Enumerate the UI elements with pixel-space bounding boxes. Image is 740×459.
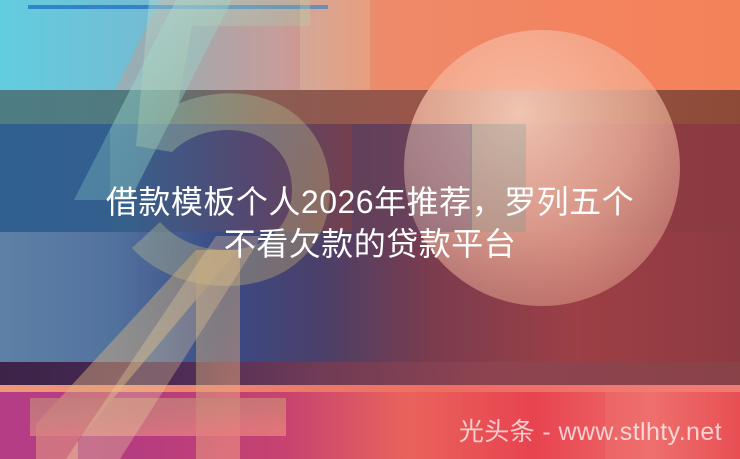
abstract-background [0,0,740,459]
decor-tint-d [0,124,110,232]
promo-banner: 借款模板个人2026年推荐，罗列五个 不看欠款的贷款平台 光头条 - www.s… [0,0,740,459]
site-watermark: 光头条 - www.stlhty.net [459,417,722,447]
decor-tint-a [300,0,370,90]
decor-tint-b [352,124,472,232]
decor-tint-c [470,124,526,232]
